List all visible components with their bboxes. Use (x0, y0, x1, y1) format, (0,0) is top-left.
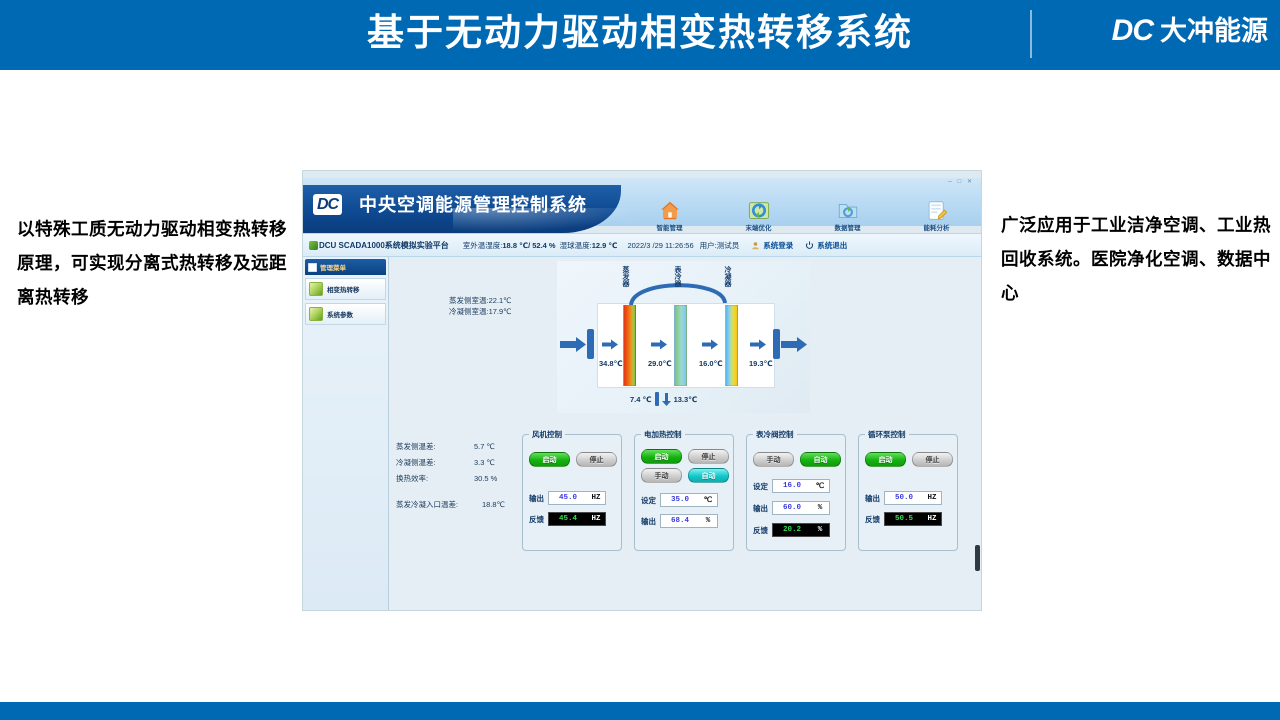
platform-icon (309, 241, 318, 250)
field-unit: % (811, 526, 829, 534)
stat-value: 5.7 ℃ (474, 439, 495, 455)
nav-item-data-management[interactable]: 数据管理 (803, 186, 892, 233)
air-temp-2: 29.0℃ (648, 359, 672, 368)
system-schematic: 蒸发器 表冷器 冷凝器 34.8℃ 29. (557, 261, 810, 413)
inlet-damper (587, 329, 594, 359)
field-label: 输出 (529, 493, 544, 504)
cond-side-room-temp: 冷凝侧室温:17.9℃ (449, 306, 512, 317)
field-value: 50.5 (885, 515, 923, 523)
slide-footer (0, 702, 1280, 720)
field-unit: ℃ (811, 481, 829, 491)
nav-label: 末端优化 (746, 222, 772, 232)
button-row: 手动 自动 (753, 452, 841, 467)
stat-key: 蒸发侧温差: (396, 439, 474, 455)
valve-manual-button[interactable]: 手动 (753, 452, 794, 467)
panel-title: 电加热控制 (641, 429, 685, 440)
settings-icon (309, 307, 323, 321)
heater-auto-button[interactable]: 自动 (688, 468, 729, 483)
panel-title: 循环泵控制 (865, 429, 909, 440)
evaporator-label: 蒸发器 (621, 266, 629, 287)
heater-setpoint-field[interactable]: 35.0 ℃ (660, 493, 718, 507)
field-value: 60.0 (773, 504, 811, 512)
stat-value: 3.3 ℃ (474, 455, 495, 471)
wetbulb-label: 湿球温度: (560, 240, 592, 251)
field-label: 反馈 (865, 514, 880, 525)
nav-item-energy-analysis[interactable]: 能耗分析 (892, 186, 981, 233)
field-label: 反馈 (529, 514, 544, 525)
stat-key: 换热效率: (396, 471, 474, 487)
field-label: 输出 (753, 503, 768, 514)
heater-stop-button[interactable]: 停止 (688, 449, 729, 464)
airflow-arrow-icon (750, 339, 766, 350)
evap-side-room-temp: 蒸发侧室温:22.1℃ (449, 295, 512, 306)
field-label: 输出 (641, 516, 656, 527)
bottom-temp-2: 13.3℃ (674, 395, 698, 404)
slide-header: 基于无动力驱动相变热转移系统 DC 大冲能源 (0, 0, 1280, 70)
stat-value: 30.5 % (474, 471, 497, 487)
outdoor-temp-value: 18.8 ℃/ (502, 241, 530, 250)
field-label: 设定 (753, 481, 768, 492)
field-row: 反馈 45.4 HZ (529, 512, 606, 526)
caption-right: 广泛应用于工业洁净空调、工业热回收系统。医院净化空调、数据中心 (1001, 208, 1276, 310)
air-temp-4: 19.3℃ (749, 359, 773, 368)
scada-screenshot: DC 中央空调能源管理控制系统 ─ □ ✕ 智能管理 末端优化 (302, 170, 982, 611)
sidebar-item-label: 相变热转移 (327, 284, 360, 294)
field-row: 输出 68.4 % (641, 514, 718, 528)
cooling-coil-label: 表冷器 (673, 266, 681, 287)
fan-start-button[interactable]: 启动 (529, 452, 570, 467)
evaporator-coil (623, 305, 636, 386)
login-button[interactable]: 系统登录 (751, 240, 793, 251)
field-value: 45.4 (549, 515, 587, 523)
field-value: 35.0 (661, 496, 699, 504)
airflow-arrow-icon (651, 339, 667, 350)
platform-name: DCU SCADA1000系统模拟实验平台 (319, 240, 449, 251)
valve-auto-button[interactable]: 自动 (800, 452, 841, 467)
sidebar-header: 管理菜单 (305, 259, 386, 275)
logout-label: 系统退出 (817, 240, 847, 251)
refresh-icon (748, 200, 770, 221)
button-row: 启动 停止 (865, 452, 953, 467)
status-bar: DCU SCADA1000系统模拟实验平台 室外温湿度: 18.8 ℃/ 52.… (303, 233, 982, 257)
fan-output-field[interactable]: 45.0 HZ (548, 491, 606, 505)
bottom-temperature-readouts: 7.4 ℃ 13.3℃ (630, 392, 697, 406)
fan-feedback-field: 45.4 HZ (548, 512, 606, 526)
caption-left: 以特殊工质无动力驱动相变热转移原理，可实现分离式热转移及远距离热转移 (17, 212, 292, 314)
app-banner: DC 中央空调能源管理控制系统 ─ □ ✕ 智能管理 末端优化 (303, 178, 982, 226)
stat-key: 蒸发冷凝入口温差: (396, 497, 482, 513)
heater-start-button[interactable]: 启动 (641, 449, 682, 464)
panel-cooling-valve-control: 表冷阀控制 手动 自动 设定 16.0 ℃ 输出 60.0 % (746, 434, 846, 551)
window-controls[interactable]: ─ □ ✕ (948, 178, 974, 185)
field-value: 20.2 (773, 526, 811, 534)
cooling-coil (674, 305, 687, 386)
airflow-arrow-icon (602, 339, 618, 350)
report-icon (926, 200, 948, 221)
down-arrow-icon (662, 393, 671, 406)
field-row: 反馈 20.2 % (753, 523, 830, 537)
nav-label: 数据管理 (835, 222, 861, 232)
field-unit: % (699, 517, 717, 525)
logout-button[interactable]: 系统退出 (805, 240, 847, 251)
main-canvas: 蒸发侧室温:22.1℃ 冷凝侧室温:17.9℃ 蒸发器 表冷器 冷凝器 (389, 257, 982, 611)
field-row: 输出 60.0 % (753, 501, 830, 515)
air-inlet-arrow-icon (560, 337, 586, 352)
field-row: 设定 16.0 ℃ (753, 479, 830, 493)
condenser-label: 冷凝器 (723, 266, 731, 287)
valve-output-field[interactable]: 60.0 % (772, 501, 830, 515)
panel-title: 风机控制 (529, 429, 565, 440)
stat-value: 18.8℃ (482, 497, 505, 513)
field-unit: HZ (587, 494, 605, 502)
condenser-coil (725, 305, 738, 386)
sidebar: 管理菜单 相变热转移 系统参数 (303, 257, 389, 611)
user-icon (751, 241, 760, 250)
field-row: 输出 50.0 HZ (865, 491, 942, 505)
field-unit: HZ (923, 494, 941, 502)
valve-feedback-field: 20.2 % (772, 523, 830, 537)
outdoor-label: 室外温湿度: (463, 240, 503, 251)
sidebar-item-label: 系统参数 (327, 309, 353, 319)
stat-key: 冷凝侧温差: (396, 455, 474, 471)
field-value: 68.4 (661, 517, 699, 525)
power-icon (805, 241, 814, 250)
valve-setpoint-field[interactable]: 16.0 ℃ (772, 479, 830, 493)
fan-stop-button[interactable]: 停止 (576, 452, 617, 467)
field-label: 输出 (865, 493, 880, 504)
scrollbar-thumb[interactable] (975, 545, 980, 571)
sidebar-header-label: 管理菜单 (320, 262, 346, 272)
control-panels: 风机控制 启动 停止 输出 45.0 HZ 反馈 45.4 HZ (522, 434, 972, 554)
pump-feedback-field: 50.5 HZ (884, 512, 942, 526)
field-value: 50.0 (885, 494, 923, 502)
field-unit: ℃ (699, 495, 717, 505)
menu-icon (308, 263, 317, 272)
air-temp-1: 34.8℃ (599, 359, 623, 368)
room-temperature-readouts: 蒸发侧室温:22.1℃ 冷凝侧室温:17.9℃ (449, 295, 512, 317)
panel-title: 表冷阀控制 (753, 429, 797, 440)
stat-row: 蒸发侧温差: 5.7 ℃ (396, 439, 505, 455)
pipe-segment (655, 392, 659, 406)
panel-electric-heater-control: 电加热控制 启动 停止 手动 自动 设定 35.0 ℃ 输出 (634, 434, 734, 551)
field-row: 输出 45.0 HZ (529, 491, 606, 505)
monitor-icon (309, 282, 323, 296)
field-unit: HZ (923, 515, 941, 523)
nav-item-smart-management[interactable]: 智能管理 (625, 186, 714, 233)
pump-start-button[interactable]: 启动 (865, 452, 906, 467)
airflow-arrow-icon (702, 339, 718, 350)
air-outlet-arrow-icon (781, 337, 807, 352)
field-row: 反馈 50.5 HZ (865, 512, 942, 526)
current-user: 用户:测试员 (700, 240, 740, 251)
button-row: 启动 停止 (641, 449, 729, 464)
button-row: 手动 自动 (641, 468, 729, 483)
air-temp-3: 16.0℃ (699, 359, 723, 368)
datetime: 2022/3 /29 11:26:56 (627, 241, 693, 250)
field-value: 45.0 (549, 494, 587, 502)
field-label: 设定 (641, 495, 656, 506)
bottom-temp-1: 7.4 ℃ (630, 395, 652, 404)
company-logo: DC 大冲能源 (1112, 14, 1268, 48)
sidebar-item-system-parameters[interactable]: 系统参数 (305, 303, 386, 325)
field-unit: % (811, 504, 829, 512)
stats-spacer (396, 487, 505, 497)
field-value: 16.0 (773, 482, 811, 490)
brand-mark: DC (1112, 14, 1153, 48)
app-banner-title: 中央空调能源管理控制系统 (359, 194, 587, 216)
field-label: 反馈 (753, 525, 768, 536)
page-title: 基于无动力驱动相变热转移系统 (0, 8, 1280, 58)
panel-circulation-pump-control: 循环泵控制 启动 停止 输出 50.0 HZ 反馈 50.5 HZ (858, 434, 958, 551)
stat-row: 换热效率: 30.5 % (396, 471, 505, 487)
heater-manual-button[interactable]: 手动 (641, 468, 682, 483)
stat-row: 蒸发冷凝入口温差: 18.8℃ (396, 497, 505, 513)
field-unit: HZ (587, 515, 605, 523)
pump-stop-button[interactable]: 停止 (912, 452, 953, 467)
button-row: 启动 停止 (529, 452, 617, 467)
heater-output-field[interactable]: 68.4 % (660, 514, 718, 528)
panel-fan-control: 风机控制 启动 停止 输出 45.0 HZ 反馈 45.4 HZ (522, 434, 622, 551)
nav-item-terminal-optimization[interactable]: 末端优化 (714, 186, 803, 233)
login-label: 系统登录 (763, 240, 793, 251)
sidebar-item-phase-change-heat-transfer[interactable]: 相变热转移 (305, 278, 386, 300)
performance-stats: 蒸发侧温差: 5.7 ℃ 冷凝侧温差: 3.3 ℃ 换热效率: 30.5 % 蒸… (396, 439, 505, 513)
outdoor-rh-value: 52.4 % (532, 241, 555, 250)
home-icon (659, 200, 681, 221)
brand-name: 大冲能源 (1160, 14, 1268, 48)
app-logo: DC (313, 194, 342, 215)
pump-output-field[interactable]: 50.0 HZ (884, 491, 942, 505)
field-row: 设定 35.0 ℃ (641, 493, 718, 507)
stat-row: 冷凝侧温差: 3.3 ℃ (396, 455, 505, 471)
wetbulb-value: 12.9 ℃ (592, 241, 618, 250)
nav-label: 智能管理 (657, 222, 683, 232)
outlet-damper (773, 329, 780, 359)
top-nav: 智能管理 末端优化 数据管理 (625, 186, 981, 233)
nav-label: 能耗分析 (924, 222, 950, 232)
folder-icon (837, 200, 859, 221)
header-divider (1030, 10, 1032, 58)
